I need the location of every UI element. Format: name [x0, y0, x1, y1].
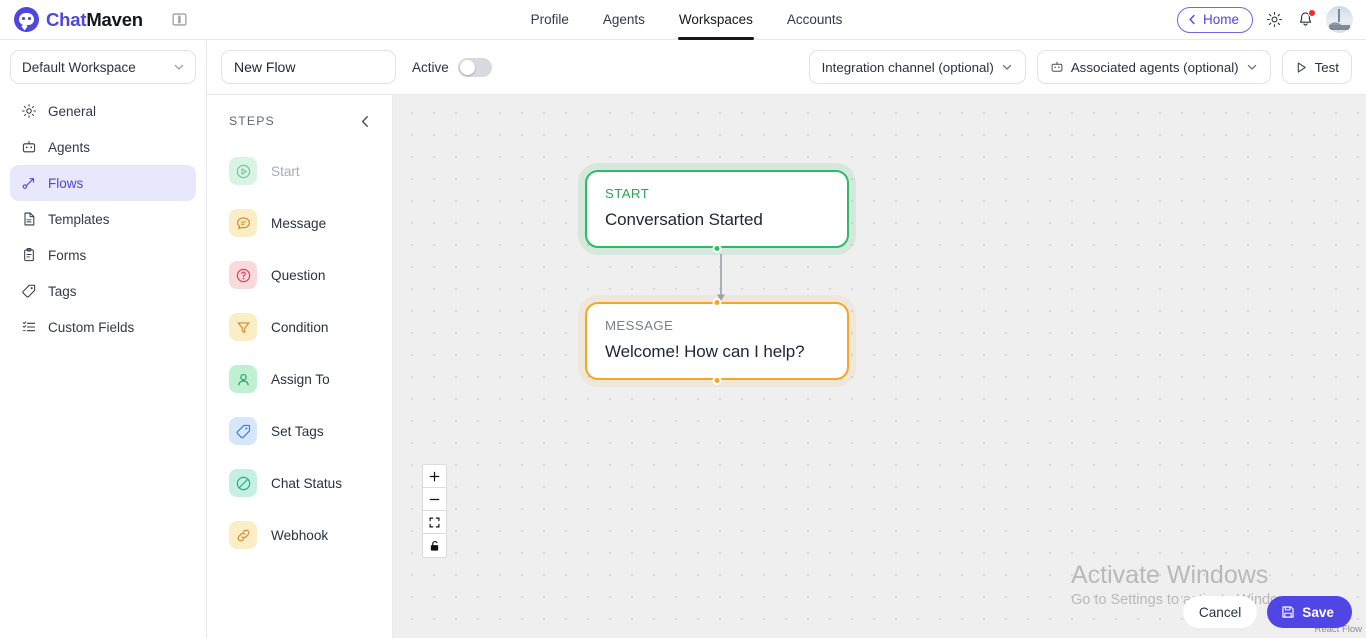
- sidebar-item-label: General: [48, 104, 96, 119]
- step-item-condition[interactable]: Condition: [207, 308, 392, 346]
- flow-toolbar: Active Integration channel (optional): [207, 40, 1366, 95]
- active-toggle[interactable]: [458, 58, 492, 77]
- sidebar-item-templates[interactable]: Templates: [10, 201, 196, 237]
- flow-node-kind: START: [605, 186, 829, 201]
- associated-agents-select[interactable]: Associated agents (optional): [1037, 50, 1271, 84]
- brand-logo[interactable]: ChatMaven: [0, 7, 162, 32]
- step-item-start[interactable]: Start: [207, 152, 392, 190]
- brand-name: ChatMaven: [46, 9, 143, 31]
- step-item-label: Condition: [271, 320, 328, 335]
- workspace-select-value: Default Workspace: [22, 60, 136, 75]
- ban-circle-icon: [229, 469, 257, 497]
- flow-name-input[interactable]: [221, 50, 396, 84]
- save-button[interactable]: Save: [1267, 596, 1352, 628]
- sidebar-item-tags[interactable]: Tags: [10, 273, 196, 309]
- step-item-label: Question: [271, 268, 325, 283]
- notification-badge-dot: [1308, 9, 1317, 18]
- chatmaven-logo-icon: [14, 7, 39, 32]
- nav-tab-workspaces[interactable]: Workspaces: [679, 0, 753, 40]
- toolbar-right-actions: Integration channel (optional) Associate…: [809, 50, 1352, 84]
- sidebar-item-custom-fields[interactable]: Custom Fields: [10, 309, 196, 345]
- sidebar-item-label: Templates: [48, 212, 110, 227]
- bell-icon[interactable]: [1295, 10, 1315, 30]
- zoom-in-icon[interactable]: [423, 465, 446, 488]
- node-handle-bottom[interactable]: [713, 376, 722, 385]
- step-item-webhook[interactable]: Webhook: [207, 516, 392, 554]
- flow-node-start[interactable]: START Conversation Started: [585, 170, 849, 248]
- save-button-label: Save: [1302, 605, 1334, 620]
- step-item-chat-status[interactable]: Chat Status: [207, 464, 392, 502]
- link-icon: [229, 521, 257, 549]
- nav-tab-profile[interactable]: Profile: [531, 0, 569, 40]
- flow-node-kind: MESSAGE: [605, 318, 829, 333]
- steps-panel-title: STEPS: [229, 114, 275, 128]
- clipboard-icon: [20, 247, 37, 264]
- integration-channel-label: Integration channel (optional): [822, 60, 994, 75]
- step-item-label: Chat Status: [271, 476, 342, 491]
- app-root: ChatMaven Profile Agents Workspaces Acco…: [0, 0, 1366, 638]
- panel-toggle-icon[interactable]: [162, 0, 196, 40]
- canvas-zoom-controls: [422, 464, 447, 558]
- sidebar-item-label: Agents: [48, 140, 90, 155]
- play-circle-icon: [229, 157, 257, 185]
- test-button[interactable]: Test: [1282, 50, 1352, 84]
- sidebar: Default Workspace General: [0, 40, 207, 638]
- sidebar-item-agents[interactable]: Agents: [10, 129, 196, 165]
- sidebar-item-label: Tags: [48, 284, 77, 299]
- steps-panel: STEPS Start Mes: [207, 95, 393, 638]
- document-icon: [20, 211, 37, 228]
- step-item-label: Webhook: [271, 528, 328, 543]
- question-mark-icon: [229, 261, 257, 289]
- step-item-label: Set Tags: [271, 424, 324, 439]
- active-toggle-label: Active: [412, 60, 449, 75]
- sidebar-item-label: Custom Fields: [48, 320, 134, 335]
- robot-icon: [20, 139, 37, 156]
- test-button-label: Test: [1315, 60, 1339, 75]
- flow-node-text: Conversation Started: [605, 210, 829, 230]
- step-item-question[interactable]: Question: [207, 256, 392, 294]
- zoom-out-icon[interactable]: [423, 488, 446, 511]
- floppy-disk-icon: [1281, 605, 1295, 619]
- active-toggle-group: Active: [412, 58, 492, 77]
- sidebar-item-forms[interactable]: Forms: [10, 237, 196, 273]
- tag-icon: [20, 283, 37, 300]
- sidebar-item-flows[interactable]: Flows: [10, 165, 196, 201]
- top-bar: ChatMaven Profile Agents Workspaces Acco…: [0, 0, 1366, 40]
- person-icon: [229, 365, 257, 393]
- step-item-assign-to[interactable]: Assign To: [207, 360, 392, 398]
- brand-name-part1: Chat: [46, 9, 86, 30]
- gear-icon: [20, 103, 37, 120]
- step-item-set-tags[interactable]: Set Tags: [207, 412, 392, 450]
- cancel-button[interactable]: Cancel: [1183, 596, 1257, 628]
- gear-icon[interactable]: [1264, 10, 1284, 30]
- sidebar-item-label: Flows: [48, 176, 83, 191]
- workspace-select[interactable]: Default Workspace: [10, 50, 196, 84]
- watermark-title: Activate Windows: [1071, 561, 1366, 589]
- user-avatar[interactable]: [1326, 6, 1353, 33]
- step-item-message[interactable]: Message: [207, 204, 392, 242]
- associated-agents-label: Associated agents (optional): [1071, 60, 1239, 75]
- nav-tab-agents[interactable]: Agents: [603, 0, 645, 40]
- chevron-left-icon: [1187, 14, 1198, 25]
- brand-name-part2: Maven: [86, 9, 143, 30]
- funnel-icon: [229, 313, 257, 341]
- sidebar-item-label: Forms: [48, 248, 86, 263]
- chevron-down-icon: [1001, 61, 1013, 73]
- sidebar-item-general[interactable]: General: [10, 93, 196, 129]
- node-handle-bottom[interactable]: [713, 244, 722, 253]
- home-button-label: Home: [1203, 12, 1239, 27]
- node-handle-top[interactable]: [713, 298, 722, 307]
- flow-icon: [20, 175, 37, 192]
- chevron-down-icon: [173, 61, 185, 73]
- top-bar-actions: Home: [1177, 6, 1366, 33]
- primary-nav: Profile Agents Workspaces Accounts: [196, 0, 1177, 40]
- nav-tab-accounts[interactable]: Accounts: [787, 0, 843, 40]
- sidebar-nav: General Agents: [10, 93, 196, 345]
- play-icon: [1295, 61, 1308, 74]
- tag-icon: [229, 417, 257, 445]
- home-button[interactable]: Home: [1177, 7, 1253, 33]
- chevron-down-icon: [1246, 61, 1258, 73]
- bottom-action-bar: Cancel Save: [1183, 596, 1352, 628]
- chat-bubble-icon: [229, 209, 257, 237]
- chevron-left-icon[interactable]: [357, 113, 373, 129]
- steps-panel-header: STEPS: [207, 113, 392, 129]
- flow-node-text: Welcome! How can I help?: [605, 342, 829, 362]
- robot-icon: [1050, 60, 1064, 74]
- integration-channel-select[interactable]: Integration channel (optional): [809, 50, 1026, 84]
- flow-node-message[interactable]: MESSAGE Welcome! How can I help?: [585, 302, 849, 380]
- step-item-label: Assign To: [271, 372, 330, 387]
- flow-canvas[interactable]: START Conversation Started MESSAGE Welco…: [393, 95, 1366, 638]
- step-item-label: Message: [271, 216, 326, 231]
- lock-icon[interactable]: [423, 534, 446, 557]
- step-item-label: Start: [271, 164, 300, 179]
- fit-view-icon[interactable]: [423, 511, 446, 534]
- list-icon: [20, 319, 37, 336]
